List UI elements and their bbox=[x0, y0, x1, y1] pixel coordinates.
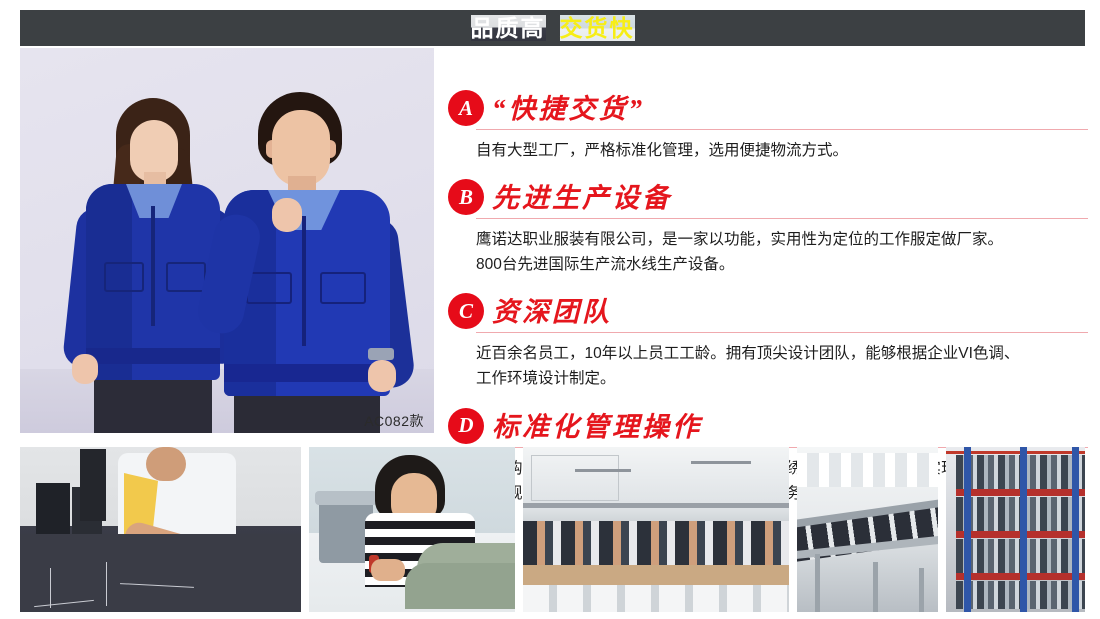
cutter-head bbox=[146, 447, 186, 481]
ceiling-fan-2-icon bbox=[691, 461, 751, 464]
sewing-machine-head bbox=[315, 491, 377, 505]
feature-c-head: C 资深团队 bbox=[448, 291, 1088, 333]
fabric-stack-lower bbox=[405, 563, 515, 609]
feature-a-head: A “快捷交货” bbox=[448, 88, 1088, 130]
male-model-hand-left bbox=[272, 198, 302, 232]
feature-item-a: A “快捷交货” 自有大型工厂，严格标准化管理，选用便捷物流方式。 bbox=[448, 88, 1088, 163]
feature-d-head: D 标准化管理操作 bbox=[448, 406, 1088, 448]
male-model-waistband bbox=[224, 364, 390, 382]
feature-c-title: 资深团队 bbox=[492, 290, 612, 329]
feature-a-line-1: 自有大型工厂，严格标准化管理，选用便捷物流方式。 bbox=[476, 138, 1088, 163]
product-code-label: AC082款 bbox=[364, 411, 424, 431]
conveyor-post-1 bbox=[815, 554, 820, 612]
hero-row: AC082款 A “快捷交货” 自有大型工厂，严格标准化管理，选用便捷物流方式。… bbox=[0, 48, 1100, 433]
feature-b-divider bbox=[476, 218, 1088, 219]
female-model-hand bbox=[72, 354, 98, 384]
gallery-thumb-conveyor-line bbox=[797, 447, 938, 612]
feature-item-b: B 先进生产设备 鹰诺达职业服装有限公司，是一家以功能，实用性为定位的工作服定做… bbox=[448, 177, 1088, 277]
feature-a-body: 自有大型工厂，严格标准化管理，选用便捷物流方式。 bbox=[476, 138, 1088, 163]
feature-c-badge-icon: C bbox=[448, 293, 484, 329]
ceiling-beam bbox=[523, 503, 789, 508]
feature-b-body: 鹰诺达职业服装有限公司，是一家以功能，实用性为定位的工作服定做厂家。 800台先… bbox=[476, 227, 1088, 277]
standing-person-legs bbox=[80, 449, 106, 521]
chalk-mark-2 bbox=[50, 568, 51, 608]
feature-c-body: 近百余名员工，10年以上员工工龄。拥有顶尖设计团队，能够根据企业VI色调、 工作… bbox=[476, 341, 1088, 391]
female-model-pocket-right bbox=[166, 262, 206, 292]
feature-c-divider bbox=[476, 332, 1088, 333]
female-model-pocket-left bbox=[104, 262, 144, 292]
gallery-thumb-sewing-floor bbox=[523, 447, 789, 612]
feature-list: A “快捷交货” 自有大型工厂，严格标准化管理，选用便捷物流方式。 B 先进生产… bbox=[448, 48, 1088, 433]
hero-product-image: AC082款 bbox=[20, 48, 434, 433]
conveyor-post-2 bbox=[873, 562, 878, 612]
feature-a-divider bbox=[476, 129, 1088, 130]
feature-b-line-2: 800台先进国际生产流水线生产设备。 bbox=[476, 252, 1088, 277]
feature-c-line-1: 近百余名员工，10年以上员工工龄。拥有顶尖设计团队，能够根据企业VI色调、 bbox=[476, 341, 1088, 366]
rack-upright-3 bbox=[1072, 447, 1079, 612]
feature-d-title: 标准化管理操作 bbox=[492, 405, 702, 444]
operator-hand bbox=[371, 559, 405, 581]
gallery-thumb-warehouse bbox=[946, 447, 1085, 612]
male-model-pocket-right bbox=[320, 272, 366, 304]
factory-window bbox=[531, 455, 619, 501]
feature-c-line-2: 工作环境设计制定。 bbox=[476, 366, 1088, 391]
header-title-accent: 交货快 bbox=[560, 15, 635, 41]
gallery-thumb-cutting-room bbox=[20, 447, 301, 612]
promo-page: 品质高交货快 bbox=[0, 0, 1100, 619]
header-banner: 品质高交货快 bbox=[20, 10, 1085, 46]
female-model-zipper bbox=[151, 206, 155, 326]
male-model-wristwatch bbox=[368, 348, 394, 360]
feature-a-title: “快捷交货” bbox=[492, 87, 645, 126]
chalk-mark-3 bbox=[106, 562, 107, 606]
white-garment-bundles bbox=[523, 585, 789, 612]
feature-d-badge-icon: D bbox=[448, 408, 484, 444]
feature-b-head: B 先进生产设备 bbox=[448, 177, 1088, 219]
rack-upright-2 bbox=[1020, 447, 1027, 612]
gallery-thumb-sewing-operator bbox=[309, 447, 515, 612]
cutting-table-fabric bbox=[20, 534, 301, 612]
header-title-primary: 品质高 bbox=[471, 15, 546, 41]
male-model-zipper bbox=[302, 216, 306, 346]
feature-a-badge-icon: A bbox=[448, 90, 484, 126]
feature-b-line-1: 鹰诺达职业服装有限公司，是一家以功能，实用性为定位的工作服定做厂家。 bbox=[476, 227, 1088, 252]
header-title: 品质高交货快 bbox=[471, 17, 635, 40]
sewing-workers-row bbox=[523, 521, 789, 565]
feature-item-c: C 资深团队 近百余名员工，10年以上员工工龄。拥有顶尖设计团队，能够根据企业V… bbox=[448, 291, 1088, 391]
rack-upright-1 bbox=[964, 447, 971, 612]
feature-b-badge-icon: B bbox=[448, 179, 484, 215]
female-model-waistband bbox=[86, 348, 220, 364]
male-model-face bbox=[272, 110, 330, 186]
male-model-pocket-left bbox=[246, 272, 292, 304]
conveyor-post-3 bbox=[919, 568, 924, 612]
ceiling-lights-row bbox=[797, 453, 938, 487]
feature-b-title: 先进生产设备 bbox=[492, 176, 672, 215]
ceiling-fan-1-icon bbox=[575, 469, 631, 472]
factory-gallery-strip bbox=[20, 447, 1085, 612]
male-model-hand-right bbox=[368, 360, 396, 392]
